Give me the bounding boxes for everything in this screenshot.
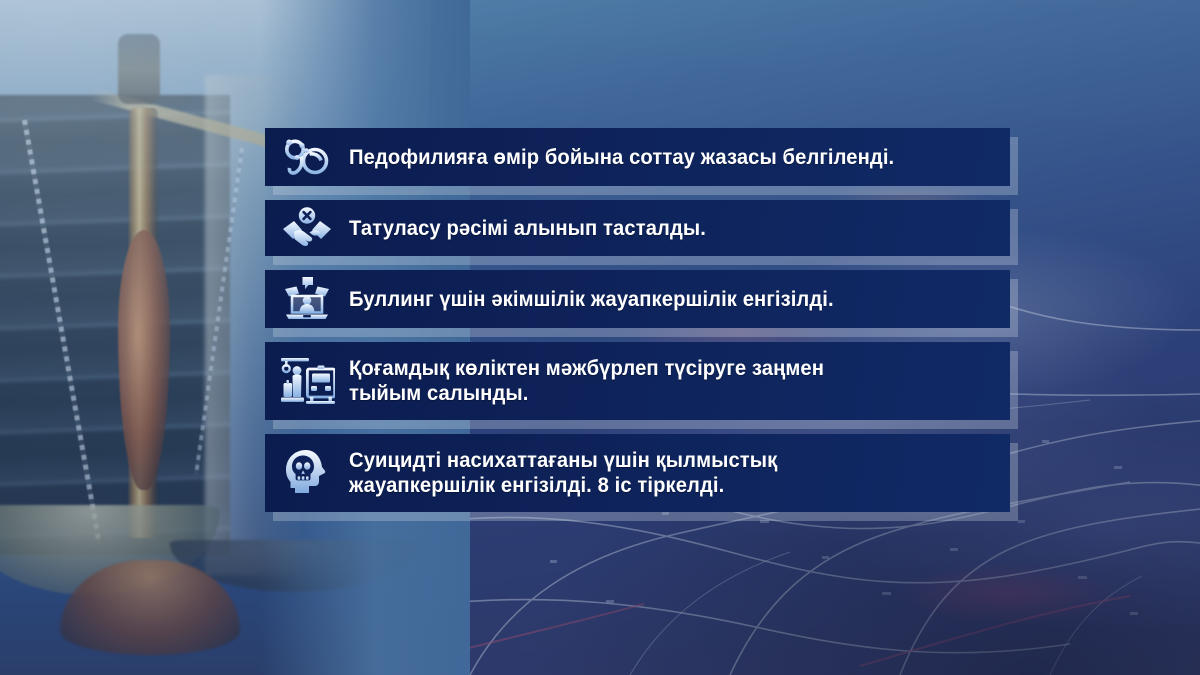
list-item[interactable]: Буллинг үшін әкімшілік жауапкершілік енг…	[265, 270, 1010, 328]
list-item-text: Татуласу рәсімі алынып тасталды.	[349, 207, 719, 250]
head-with-skull-icon	[265, 442, 349, 504]
list-item[interactable]: Педофилияға өмір бойына соттау жазасы бе…	[265, 128, 1010, 186]
public-transport-passenger-icon	[265, 349, 349, 413]
list-item-text: Педофилияға өмір бойына соттау жазасы бе…	[349, 136, 907, 179]
list-item-text: Суицидті насихаттағаны үшін қылмыстық жа…	[349, 439, 791, 507]
list-item[interactable]: Қоғамдық көліктен мәжбүрлеп түсіруге заң…	[265, 342, 1010, 420]
infographic-canvas: Педофилияға өмір бойына соттау жазасы бе…	[0, 0, 1200, 675]
handshake-cancelled-icon	[265, 200, 349, 256]
cyberbullying-laptop-icon	[265, 270, 349, 328]
list-item-text: Буллинг үшін әкімшілік жауапкершілік енг…	[349, 278, 847, 321]
statement-list: Педофилияға өмір бойына соттау жазасы бе…	[265, 128, 1010, 526]
handcuffs-icon	[265, 129, 349, 185]
list-item[interactable]: Татуласу рәсімі алынып тасталды.	[265, 200, 1010, 256]
list-item[interactable]: Суицидті насихаттағаны үшін қылмыстық жа…	[265, 434, 1010, 512]
list-item-text: Қоғамдық көліктен мәжбүрлеп түсіруге заң…	[349, 347, 837, 415]
